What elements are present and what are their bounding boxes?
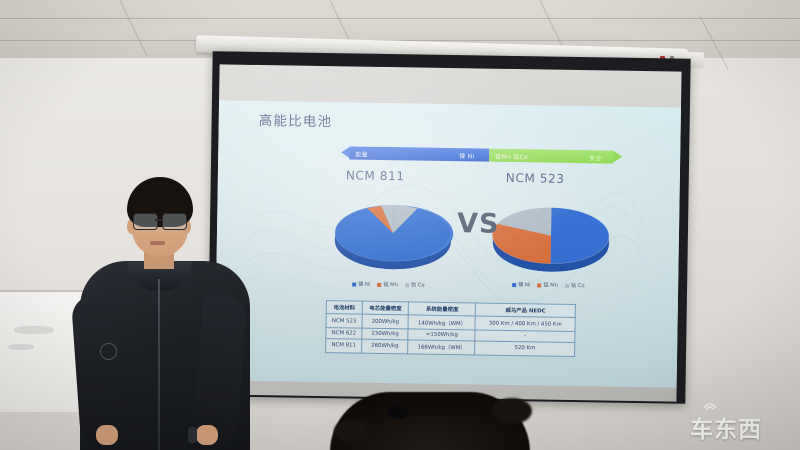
presenter-glasses-right-icon	[162, 213, 187, 230]
presenter-hand-right	[196, 425, 218, 445]
presenter-brow-left	[136, 208, 153, 211]
pie-title-ncm811: NCM 811	[346, 168, 405, 183]
col-material: 电池材料	[326, 301, 362, 315]
cell-system-density: 140Wh/kg（WM）	[408, 315, 475, 329]
col-system-density: 系统能量密度	[409, 302, 476, 316]
pie-chart-ncm811	[326, 188, 459, 274]
legend-item-nickel: 镍 Ni	[352, 281, 370, 288]
legend-swatch-nickel-icon	[512, 283, 516, 287]
slide-title: 高能比电池	[259, 109, 333, 130]
presentation-clicker[interactable]	[188, 427, 197, 443]
legend-label-nickel: 镍 Ni	[518, 281, 530, 288]
legend-swatch-manganese-icon	[377, 282, 381, 286]
presenter-glasses-bridge	[155, 219, 163, 221]
legend-swatch-nickel-icon	[352, 282, 356, 286]
pie-title-ncm523: NCM 523	[506, 171, 565, 186]
vs-label: VS	[457, 208, 500, 240]
pie-chart-ncm523	[484, 191, 617, 277]
legend-label-nickel: 镍 Ni	[358, 281, 370, 288]
photo-scene: 高能比电池 能量 镍 Ni 锰Mn 钴Co 安全 NCM 811 NCM 523	[0, 0, 800, 450]
legend-swatch-manganese-icon	[537, 283, 541, 287]
jacket-logo-icon	[100, 343, 117, 360]
presenter-zipper	[158, 279, 160, 450]
bar-label-mn-co: 锰Mn 钴Co	[495, 151, 528, 161]
presenter-hand-left	[96, 425, 118, 445]
battery-spec-table: 电池材料 电芯能量密度 系统能量密度 威马产品 NEDC NCM 523 200…	[325, 300, 576, 356]
projected-slide: 高能比电池 能量 镍 Ni 锰Mn 钴Co 安全 NCM 811 NCM 523	[215, 100, 681, 387]
bar-label-nickel: 镍 Ni	[459, 151, 474, 160]
cell-material: NCM 622	[326, 327, 362, 339]
bar-label-safety: 安全	[589, 153, 602, 162]
cell-material: NCM 811	[326, 339, 362, 353]
cell-material: NCM 523	[326, 314, 362, 328]
legend-item-cobalt: 钴 Co	[565, 282, 585, 289]
legend-item-cobalt: 钴 Co	[405, 281, 425, 288]
projection-screen: 高能比电池 能量 镍 Ni 锰Mn 钴Co 安全 NCM 811 NCM 523	[214, 64, 681, 401]
presenter-brow-right	[166, 208, 183, 211]
legend-ncm523: 镍 Ni 锰 Mn 钴 Co	[512, 281, 585, 289]
legend-item-manganese: 锰 Mn	[537, 281, 558, 288]
legend-label-cobalt: 钴 Co	[571, 282, 585, 289]
cell-cell-density: 230Wh/kg	[362, 328, 409, 340]
col-cell-density: 电芯能量密度	[362, 301, 409, 315]
bar-label-energy: 能量	[355, 149, 368, 158]
legend-swatch-cobalt-icon	[405, 283, 409, 287]
watermark-text: 车东西	[690, 410, 762, 444]
legend-item-manganese: 锰 Mn	[377, 281, 398, 288]
legend-label-manganese: 锰 Mn	[543, 282, 558, 289]
legend-swatch-cobalt-icon	[565, 283, 569, 287]
bar-right-arrow-icon	[613, 151, 622, 163]
legend-label-cobalt: 钴 Co	[411, 281, 425, 288]
cell-cell-density: 200Wh/kg	[362, 315, 409, 329]
cell-system-density: 166Wh/kg（WM）	[408, 340, 475, 354]
hair-tie	[388, 405, 408, 419]
watermark-logo: 车东西	[690, 398, 788, 438]
legend-label-manganese: 锰 Mn	[383, 281, 398, 288]
presenter	[70, 175, 270, 450]
cell-cell-density: 260Wh/kg	[362, 339, 409, 353]
legend-item-nickel: 镍 Ni	[512, 281, 530, 288]
legend-ncm811: 镍 Ni 锰 Mn 钴 Co	[352, 281, 425, 289]
presenter-glasses-left-icon	[133, 213, 158, 230]
cell-nedc: 520 Km	[475, 341, 575, 356]
presenter-mouth	[150, 241, 165, 245]
